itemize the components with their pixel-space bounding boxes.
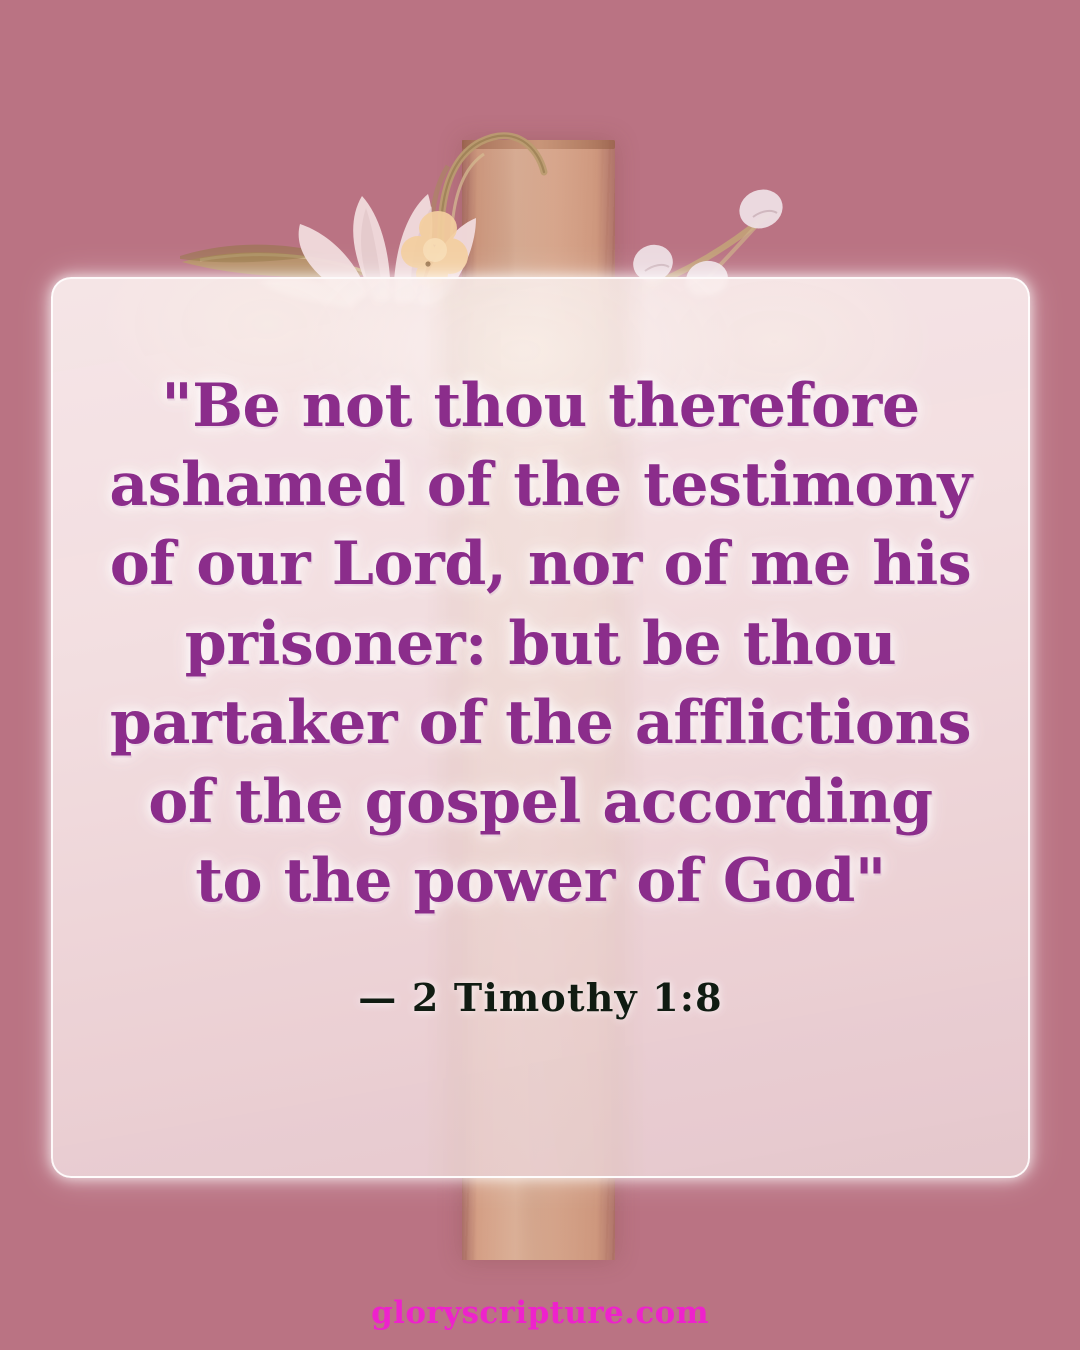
quote-card: "Be not thou therefore ashamed of the te…	[51, 277, 1030, 1178]
site-watermark: gloryscripture.com	[0, 1295, 1080, 1331]
verse-citation: — 2 Timothy 1:8	[109, 975, 972, 1020]
verse-text: "Be not thou therefore ashamed of the te…	[109, 367, 972, 921]
peach-blossom-icon	[398, 208, 476, 288]
scripture-quote-poster: "Be not thou therefore ashamed of the te…	[0, 0, 1080, 1350]
